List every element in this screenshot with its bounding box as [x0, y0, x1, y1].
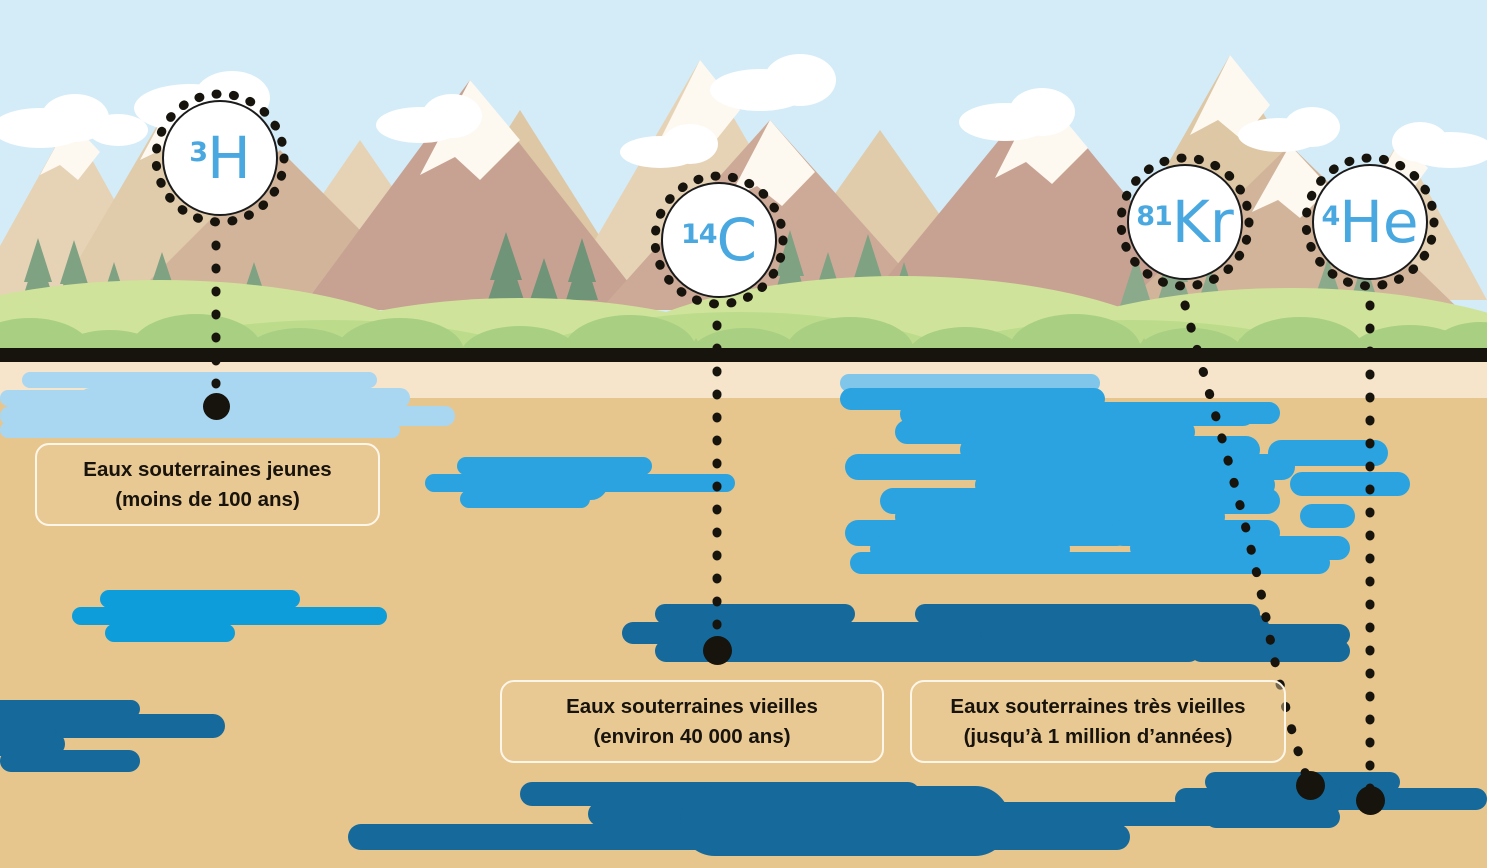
ground-surface-line	[0, 348, 1487, 362]
tritium-endpoint-dot	[203, 393, 230, 420]
bubble-disc: 3H	[162, 100, 278, 216]
water-shallow-bar	[0, 422, 400, 438]
water-mid-bar	[1290, 472, 1410, 496]
water-deep-bar	[0, 750, 140, 772]
water-deep-bar	[830, 824, 1130, 850]
water-deep-bar	[55, 714, 225, 738]
label-old-groundwater: Eaux souterraines vieilles (environ 40 0…	[500, 680, 884, 763]
label-very-old-line1: Eaux souterraines très vieilles	[950, 692, 1245, 722]
water-mid-bar	[105, 624, 235, 642]
infographic-root: 3H 14C 81Kr 4He Eaux souterraines jeunes…	[0, 0, 1487, 868]
hydrogen-3-bubble[interactable]: 3H	[150, 88, 290, 228]
krypton-81-bubble[interactable]: 81Kr	[1115, 152, 1255, 292]
water-deep-bar	[655, 640, 1200, 662]
krypton81-endpoint-dot	[1296, 771, 1325, 800]
isotope-krypton-81: 81Kr	[1136, 193, 1233, 251]
label-very-old-groundwater: Eaux souterraines très vieilles (jusqu’à…	[910, 680, 1286, 763]
isotope-hydrogen-3: 3H	[189, 129, 250, 187]
bubble-disc: 81Kr	[1127, 164, 1243, 280]
label-old-line2: (environ 40 000 ans)	[593, 722, 790, 752]
water-mid-bar	[850, 552, 1000, 574]
water-mid-bar	[1300, 504, 1355, 528]
isotope-carbon-14: 14C	[681, 211, 757, 269]
water-deep-bar	[1205, 806, 1340, 828]
helium4-endpoint-dot	[1356, 786, 1385, 815]
bubble-disc: 14C	[661, 182, 777, 298]
water-deep-bar	[655, 604, 855, 624]
label-young-line2: (moins de 100 ans)	[115, 485, 300, 515]
isotope-helium-4: 4He	[1321, 193, 1418, 251]
water-deep-bar	[1190, 640, 1350, 662]
water-mid-bar	[1130, 402, 1280, 424]
helium-4-bubble[interactable]: 4He	[1300, 152, 1440, 292]
water-mid-bar	[460, 490, 590, 508]
label-young-line1: Eaux souterraines jeunes	[83, 455, 331, 485]
water-shallow-bar	[250, 388, 410, 408]
bubble-disc: 4He	[1312, 164, 1428, 280]
water-mid-bar	[1268, 440, 1388, 466]
carbon-14-bubble[interactable]: 14C	[649, 170, 789, 310]
water-shallow-bar	[22, 372, 377, 388]
label-old-line1: Eaux souterraines vieilles	[566, 692, 818, 722]
label-very-old-line2: (jusqu’à 1 million d’années)	[964, 722, 1233, 752]
carbon14-endpoint-dot	[703, 636, 732, 665]
water-mid-bar	[1130, 536, 1350, 560]
label-young-groundwater: Eaux souterraines jeunes (moins de 100 a…	[35, 443, 380, 526]
subsurface-cross-section	[0, 362, 1487, 868]
